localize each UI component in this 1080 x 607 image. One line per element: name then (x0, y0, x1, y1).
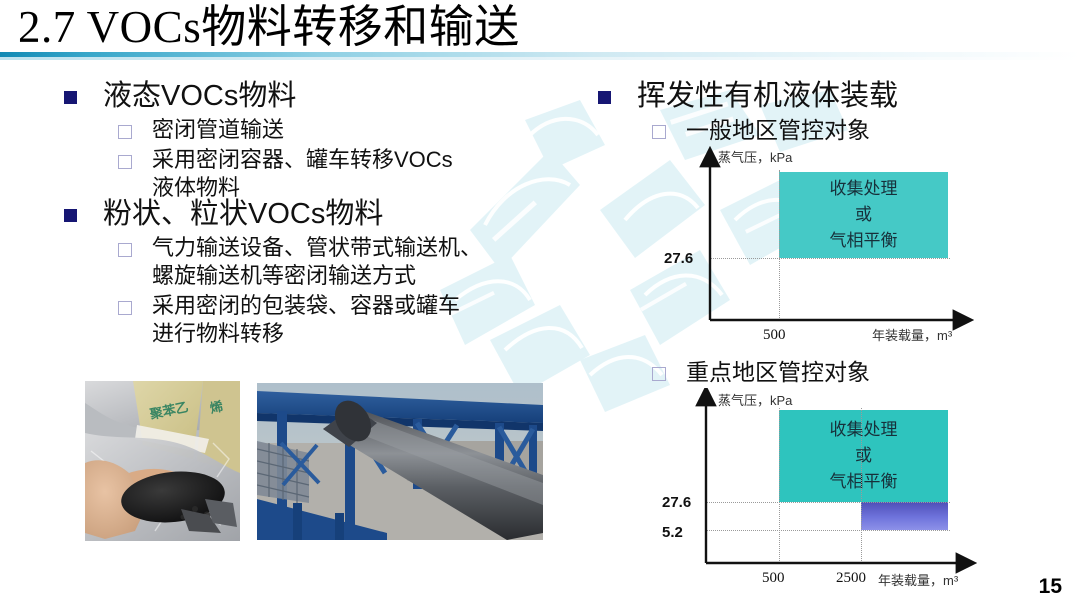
chart1-ytick-27-6: 27.6 (664, 250, 693, 267)
hollow-square-bullet-icon (652, 125, 666, 139)
hollow-square-bullet-icon (652, 367, 666, 381)
list-item: 气力输送设备、管状带式输送机、 螺旋输送机等密闭输送方式 (118, 234, 482, 290)
hollow-square-bullet-icon (118, 301, 132, 315)
hollow-square-bullet-icon (118, 155, 132, 169)
chart-key-area: 蒸气压，kPa 年装载量，m³ 收集处理 或 气相平衡 (650, 388, 990, 593)
hollow-square-bullet-icon (118, 125, 132, 139)
section-heading: 挥发性有机液体装载 (637, 78, 898, 114)
chart2-axes (650, 388, 990, 593)
bullet-powder-granular-vocs: 粉状、粒状VOCs物料 (64, 196, 383, 232)
chart-general-area: 蒸气压，kPa 年装载量，m³ 收集处理 或 气相平衡 27.6 500 (650, 145, 990, 345)
square-bullet-icon (598, 91, 611, 104)
chart2-xtick-2500: 2500 (836, 570, 866, 587)
list-item-label: 采用密闭容器、罐车转移VOCs 液体物料 (152, 146, 453, 202)
bullet-volatile-organic-loading: 挥发性有机液体装载 (598, 78, 898, 114)
chart1-axes (650, 145, 990, 345)
slide-root: 2.7 VOCs物料转移和输送 液态VOCs物料 密闭管道输送 采用密闭容器、罐… (0, 0, 1080, 607)
photo-granular-material: 聚苯乙 烯 (85, 381, 240, 541)
list-item-label: 气力输送设备、管状带式输送机、 螺旋输送机等密闭输送方式 (152, 234, 482, 290)
photo-tubular-belt-conveyor (257, 383, 543, 540)
list-item-key-area: 重点地区管控对象 (652, 358, 870, 386)
list-item: 采用密闭的包装袋、容器或罐车 进行物料转移 (118, 292, 460, 348)
square-bullet-icon (64, 209, 77, 222)
section-heading: 液态VOCs物料 (103, 78, 296, 114)
chart2-xtick-500: 500 (762, 570, 785, 587)
chart1-xtick-500: 500 (763, 327, 786, 344)
chart2-ytick-27-6: 27.6 (662, 494, 691, 511)
list-item: 采用密闭容器、罐车转移VOCs 液体物料 (118, 146, 453, 202)
list-item: 密闭管道输送 (118, 116, 284, 144)
hollow-square-bullet-icon (118, 243, 132, 257)
list-item-label: 密闭管道输送 (152, 116, 284, 144)
bullet-liquid-vocs: 液态VOCs物料 (64, 78, 296, 114)
page-title: 2.7 VOCs物料转移和输送 (18, 2, 520, 52)
list-item-label: 一般地区管控对象 (686, 116, 870, 144)
section-heading: 粉状、粒状VOCs物料 (103, 196, 383, 232)
title-underline-soft (0, 57, 1080, 60)
chart2-ytick-5-2: 5.2 (662, 524, 683, 541)
page-number: 15 (1039, 575, 1062, 599)
square-bullet-icon (64, 91, 77, 104)
list-item-general-area: 一般地区管控对象 (652, 116, 870, 144)
list-item-label: 重点地区管控对象 (686, 358, 870, 386)
list-item-label: 采用密闭的包装袋、容器或罐车 进行物料转移 (152, 292, 460, 348)
